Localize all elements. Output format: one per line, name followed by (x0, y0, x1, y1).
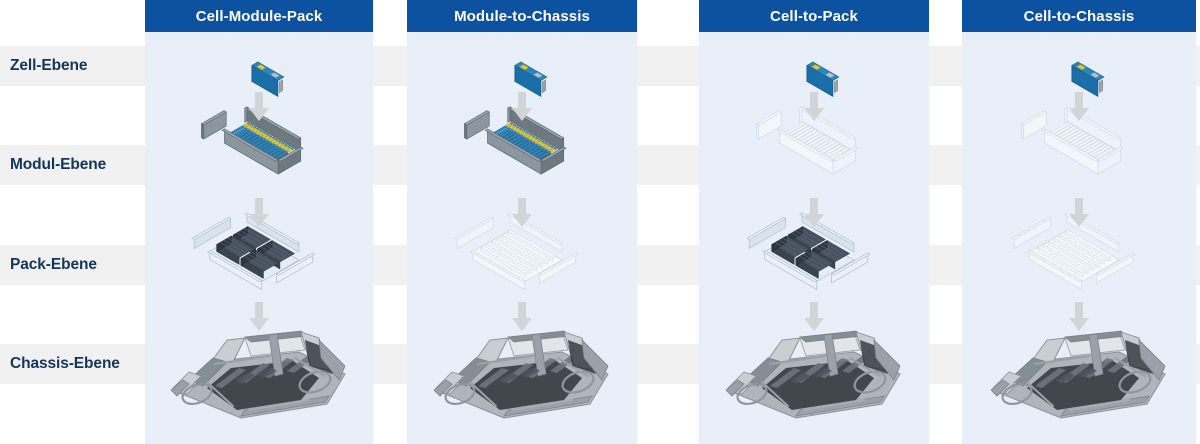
arrow-cell-to-module-cell-to-chassis (1068, 92, 1090, 122)
stage-chassis-cell-to-pack (704, 318, 924, 430)
stage-cell-module-to-chassis (487, 44, 557, 96)
stage-cell-cell-module-pack (224, 44, 294, 96)
stage-chassis-module-to-chassis (412, 318, 632, 430)
column-header-label: Cell-Module-Pack (196, 8, 323, 25)
arrow-cell-to-module-cell-to-pack (803, 92, 825, 122)
row-label-chassis: Chassis-Ebene (10, 355, 120, 373)
row-label-module: Modul-Ebene (10, 156, 106, 174)
column-header-module-to-chassis[interactable]: Module-to-Chassis (407, 0, 637, 32)
column-header-label: Cell-to-Chassis (1024, 8, 1135, 25)
column-header-label: Module-to-Chassis (454, 8, 590, 25)
arrow-pack-to-chassis-cell-module-pack (248, 302, 270, 332)
arrow-module-to-pack-cell-to-chassis (1068, 198, 1090, 228)
stage-cell-cell-to-pack (779, 44, 849, 96)
arrow-pack-to-chassis-cell-to-chassis (1068, 302, 1090, 332)
column-header-cell-module-pack[interactable]: Cell-Module-Pack (145, 0, 373, 32)
stage-chassis-cell-to-chassis (969, 318, 1189, 430)
column-header-label: Cell-to-Pack (770, 8, 858, 25)
arrow-pack-to-chassis-module-to-chassis (511, 302, 533, 332)
row-label-cell: Zell-Ebene (10, 57, 87, 75)
stage-module-cell-module-pack (189, 108, 329, 204)
stage-cell-cell-to-chassis (1044, 44, 1114, 96)
stage-chassis-cell-module-pack (149, 318, 369, 430)
arrow-module-to-pack-cell-to-pack (803, 198, 825, 228)
arrow-module-to-pack-module-to-chassis (511, 198, 533, 228)
stage-module-cell-to-chassis (1009, 108, 1149, 204)
arrow-module-to-pack-cell-module-pack (248, 198, 270, 228)
stage-module-cell-to-pack (744, 108, 884, 204)
arrow-pack-to-chassis-cell-to-pack (803, 302, 825, 332)
column-header-cell-to-chassis[interactable]: Cell-to-Chassis (962, 0, 1196, 32)
arrow-cell-to-module-cell-module-pack (248, 92, 270, 122)
stage-module-module-to-chassis (452, 108, 592, 204)
arrow-cell-to-module-module-to-chassis (511, 92, 533, 122)
row-label-pack: Pack-Ebene (10, 256, 97, 274)
column-header-cell-to-pack[interactable]: Cell-to-Pack (699, 0, 929, 32)
